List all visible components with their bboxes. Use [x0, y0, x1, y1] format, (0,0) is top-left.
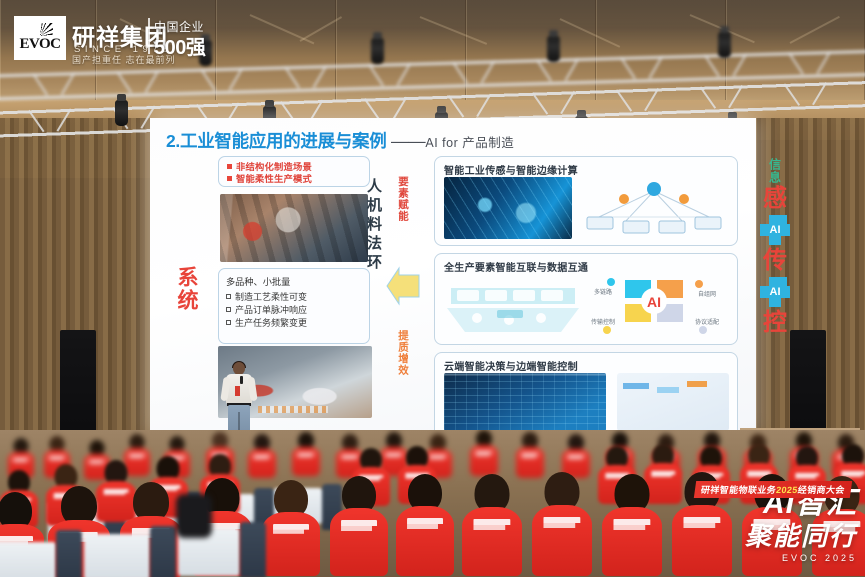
- left-arrow-icon: [386, 266, 420, 306]
- square-bullet-icon: [227, 164, 232, 169]
- vertical-label-5m: 人机料法环: [364, 178, 383, 273]
- card-cloud-edge-control-title: 云端智能决策与边端智能控制: [435, 353, 737, 373]
- slide-title: 2.工业智能应用的进展与案例 ——AI for 产品制造: [166, 128, 514, 153]
- event-ribbon-year: 2025: [776, 485, 799, 495]
- attendee: [396, 474, 454, 576]
- brand-rank-500: 500强: [154, 31, 205, 60]
- keyword-transmit: 传: [748, 246, 802, 276]
- card-cloud-edge-control: 云端智能决策与边端智能控制: [434, 352, 738, 438]
- puzzle-center-label: AI: [647, 294, 661, 310]
- dashboard-photo: [444, 373, 606, 431]
- presenter-badge: [235, 386, 240, 396]
- keyword-control: 控: [748, 308, 802, 338]
- slide-title-number: 2.: [166, 131, 180, 151]
- ai-plus-badge: AI: [760, 215, 790, 245]
- slide-title-main: 工业智能应用的进展与案例: [180, 131, 386, 151]
- slide-title-sub: AI for 产品制造: [425, 136, 514, 150]
- ai-plus-badge-label: AI: [760, 277, 790, 307]
- stage-light: [371, 38, 384, 64]
- presenter: [222, 362, 256, 440]
- event-ribbon-b: 经销商大会: [797, 485, 845, 495]
- conference-photo: 2.工业智能应用的进展与案例 ——AI for 产品制造 系统 非结构化制造场景…: [0, 0, 865, 577]
- right-keyword-column: 信息 感 AI 传 AI 控: [748, 158, 802, 338]
- card-sensing-edge: 智能工业传感与智能边缘计算: [434, 156, 738, 246]
- svg-text:协议适配: 协议适配: [695, 318, 719, 326]
- brand-divider: [148, 18, 150, 54]
- attendee: [330, 476, 388, 576]
- slide-title-dash: ——: [391, 131, 425, 151]
- production-list-item-label: 制造工艺柔性可变: [235, 292, 307, 302]
- ai-plus-badge: AI: [760, 277, 790, 307]
- stage-light: [115, 100, 128, 126]
- attendee: [602, 474, 662, 576]
- svg-text:传输控制: 传输控制: [591, 318, 615, 326]
- vertical-label-quality-efficiency: 提质增效: [396, 330, 409, 376]
- stage-light: [547, 36, 560, 62]
- production-list-header: 多品种、小批量: [226, 274, 362, 288]
- keyword-sense: 感: [748, 184, 802, 214]
- cloud-edge-illustration: [617, 373, 729, 431]
- card-interconnect-title: 全生产要素智能互联与数据互通: [435, 254, 737, 274]
- checkbox-icon: [226, 294, 231, 299]
- attendee: [262, 480, 320, 576]
- attendee: [470, 430, 498, 476]
- factory-photo-top: [220, 194, 368, 262]
- event-watermark-sub: EVOC 2025: [745, 553, 857, 563]
- event-ribbon-a: 研祥智能物联业务: [700, 485, 777, 495]
- audience: [0, 430, 865, 577]
- evoc-logo-text: EVOC: [19, 36, 60, 53]
- event-ribbon: 研祥智能物联业务2025经销商大会: [694, 481, 852, 498]
- factory-grid-diagram: [443, 274, 583, 340]
- evoc-star-icon: [27, 23, 53, 36]
- sensing-network-diagram: [579, 177, 729, 239]
- sensing-photo: [444, 177, 572, 239]
- speaker-stack-left: [60, 330, 96, 440]
- event-watermark-line2: 聚能同行: [745, 521, 857, 551]
- square-bullet-icon: [227, 176, 232, 181]
- attendee: [532, 472, 592, 576]
- checkbox-icon: [226, 307, 231, 312]
- attendee: [292, 432, 320, 476]
- svg-text:自组网: 自组网: [698, 290, 716, 298]
- card-production-list: 多品种、小批量 制造工艺柔性可变 产品订单脉冲响应 生产任务频繁变更: [218, 268, 370, 344]
- scenario-bullet: 非结构化制造场景: [227, 161, 369, 173]
- backpack: [176, 494, 212, 538]
- card-interconnect: 全生产要素智能互联与数据互通 AI: [434, 253, 738, 345]
- production-list-item: 生产任务频繁变更: [226, 317, 362, 330]
- svg-text:多链路: 多链路: [594, 288, 612, 296]
- vertical-label-system: 系统: [174, 266, 199, 312]
- stage-light: [718, 32, 731, 58]
- evoc-logo: EVOC: [14, 16, 66, 60]
- production-list-item-label: 产品订单脉冲响应: [235, 305, 307, 315]
- scenario-bullet-label: 智能柔性生产模式: [236, 174, 312, 184]
- production-list-item: 产品订单脉冲响应: [226, 304, 362, 317]
- ai-puzzle-diagram: AI 多链路 自组网 传输控制 协议适配: [581, 272, 731, 342]
- production-list-item: 制造工艺柔性可变: [226, 291, 362, 304]
- vertical-label-element-empower: 要素赋能: [396, 176, 409, 222]
- production-list-item-label: 生产任务频繁变更: [235, 318, 307, 328]
- ai-plus-badge-label: AI: [760, 215, 790, 245]
- microphone: [240, 376, 243, 384]
- speaker-stack-right: [790, 330, 826, 440]
- card-sensing-edge-title: 智能工业传感与智能边缘计算: [435, 157, 737, 177]
- card-scenario: 非结构化制造场景 智能柔性生产模式: [218, 156, 370, 187]
- event-watermark: 研祥智能物联业务2025经销商大会 AI智汇 聚能同行 EVOC 2025: [745, 487, 857, 563]
- attendee: [248, 434, 276, 478]
- checkbox-icon: [226, 320, 231, 325]
- attendee: [462, 474, 522, 576]
- scenario-bullet: 智能柔性生产模式: [227, 173, 369, 185]
- scenario-bullet-label: 非结构化制造场景: [236, 162, 312, 172]
- keyword-information: 信息: [767, 158, 784, 184]
